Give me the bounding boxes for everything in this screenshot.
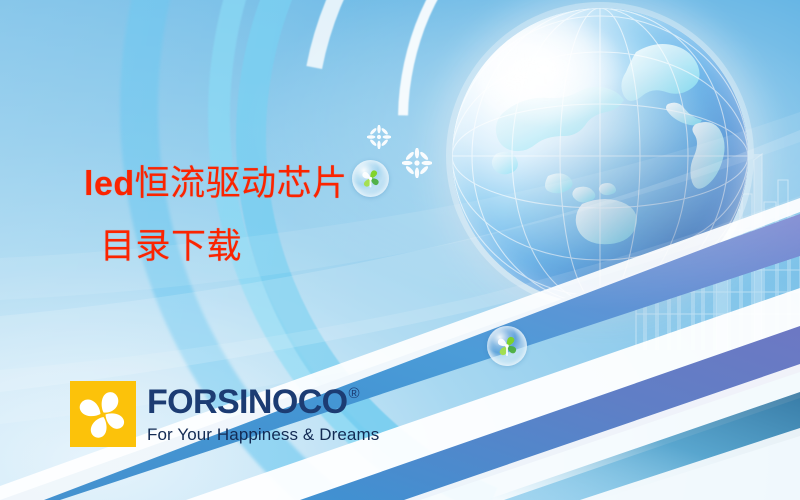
sparkle-burst-left — [367, 125, 391, 149]
pinwheel-icon — [487, 326, 527, 366]
bubble-pinwheel-lower — [487, 326, 527, 366]
headline-line-1-suffix: 恒流驱动芯片 — [135, 164, 348, 203]
headline-led-prefix: led — [84, 165, 135, 203]
brand-name: FORSINOCO — [147, 385, 348, 419]
headline-line-2: 目录下载 — [100, 229, 348, 264]
brand-tagline: For Your Happiness & Dreams — [147, 426, 379, 443]
brand-logo: FORSINOCO® For Your Happiness & Dreams — [70, 381, 379, 447]
promo-banner: led恒流驱动芯片 目录下载 FORSINOCO® For Your Happi… — [0, 0, 800, 500]
pinwheel-icon — [352, 160, 389, 197]
forsinoco-pinwheel-mark — [70, 381, 136, 447]
brand-text-lockup: FORSINOCO® For Your Happiness & Dreams — [147, 381, 379, 447]
sparkle-burst-right — [402, 148, 432, 178]
headline-line-1: led恒流驱动芯片 — [84, 166, 348, 201]
registered-trademark-icon: ® — [349, 386, 359, 401]
bubble-pinwheel-upper — [352, 160, 389, 197]
page-title: led恒流驱动芯片 目录下载 — [84, 166, 348, 264]
pinwheel-petals-icon — [70, 381, 136, 447]
brand-wordmark: FORSINOCO® — [147, 385, 379, 419]
